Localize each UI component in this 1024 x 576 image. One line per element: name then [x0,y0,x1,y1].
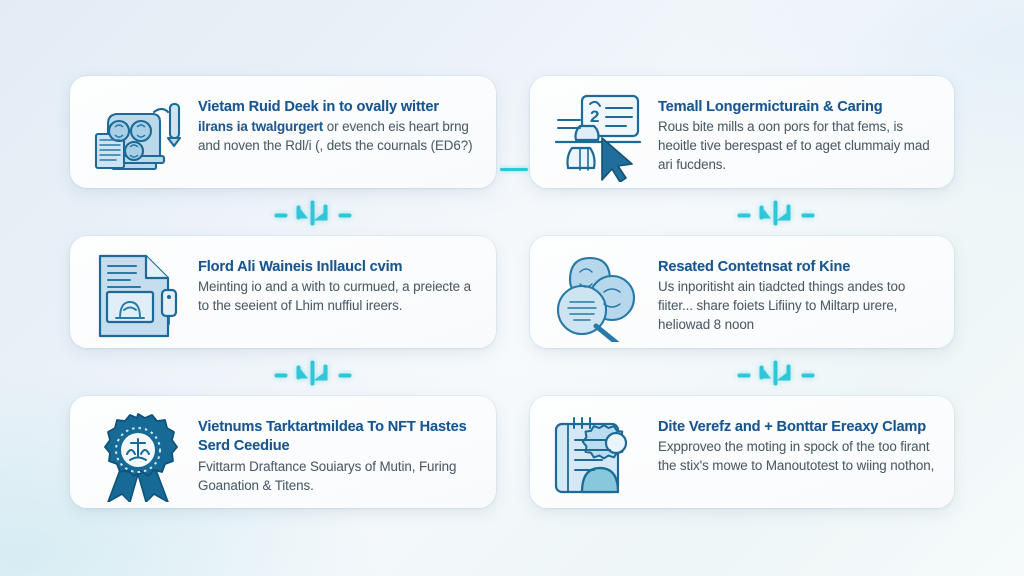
card-description: ilrans ia twalgurgert or evench eis hear… [198,118,480,156]
info-card-3[interactable]: Flord Ali Waineis Inllaucl cvim Meinting… [70,236,496,348]
card-title: Vietam Ruid Deek in to ovally witter [198,98,480,117]
document-photo-icon [88,250,192,342]
card-description: Expproveo the moting in spock of the too… [658,438,938,476]
horizontal-line-icon [500,168,528,171]
card-title: Vietnums Tarktartmildea To NFT Hastes Se… [198,418,480,457]
notebook-gear-icon [548,410,652,502]
down-arrow-icon [734,358,818,388]
card-description: Us inporitisht ain tiadcted things andes… [658,278,938,335]
down-arrow-icon [734,198,818,228]
card-text-block: Flord Ali Waineis Inllaucl cvim Meinting… [198,250,480,316]
card-text-block: Vietam Ruid Deek in to ovally witter ilr… [198,90,480,156]
card-text-block: Vietnums Tarktartmildea To NFT Hastes Se… [198,410,480,496]
connector-left-2-3 [267,356,359,390]
card-title: Resated Contetnsat rof Kine [658,258,938,277]
card-text-block: Resated Contetnsat rof Kine Us inporitis… [658,250,938,335]
magnifier-people-icon [548,250,652,342]
card-text-block: Dite Verefz and + Bonttar Ereaxy Clamp E… [658,410,938,476]
printing-press-icon [88,90,192,182]
down-arrow-icon [271,358,355,388]
infographic-board: Vietam Ruid Deek in to ovally witter ilr… [0,0,1024,576]
card-description-lead: ilrans ia twalgurgert [198,119,323,134]
card-description: Meinting io and a with to curmued, a pre… [198,278,480,316]
info-card-5[interactable]: Vietnums Tarktartmildea To NFT Hastes Se… [70,396,496,508]
card-title: Dite Verefz and + Bonttar Ereaxy Clamp [658,418,938,437]
info-card-6[interactable]: Dite Verefz and + Bonttar Ereaxy Clamp E… [530,396,954,508]
card-description: Rous bite mills a oon pors for that fems… [658,118,938,175]
card-title: Temall Longermicturain & Caring [658,98,938,117]
card-title: Flord Ali Waineis Inllaucl cvim [198,258,480,277]
connector-left-1-2 [267,196,359,230]
svg-text:2: 2 [590,107,599,126]
award-badge-icon [88,410,192,502]
down-arrow-icon [271,198,355,228]
card-text-block: Temall Longermicturain & Caring Rous bit… [658,90,938,175]
connector-right-1-2 [730,196,822,230]
info-card-4[interactable]: Resated Contetnsat rof Kine Us inporitis… [530,236,954,348]
connector-right-2-3 [730,356,822,390]
card-description: Fvittarm Draftance Souiarys of Mutin, Fu… [198,458,480,496]
info-card-1[interactable]: Vietam Ruid Deek in to ovally witter ilr… [70,76,496,188]
info-card-2[interactable]: 2 Temall Longermicturain & Caring Rous b… [530,76,954,188]
document-cursor-icon: 2 [548,90,652,182]
connector-top-row-horizontal [496,152,532,186]
